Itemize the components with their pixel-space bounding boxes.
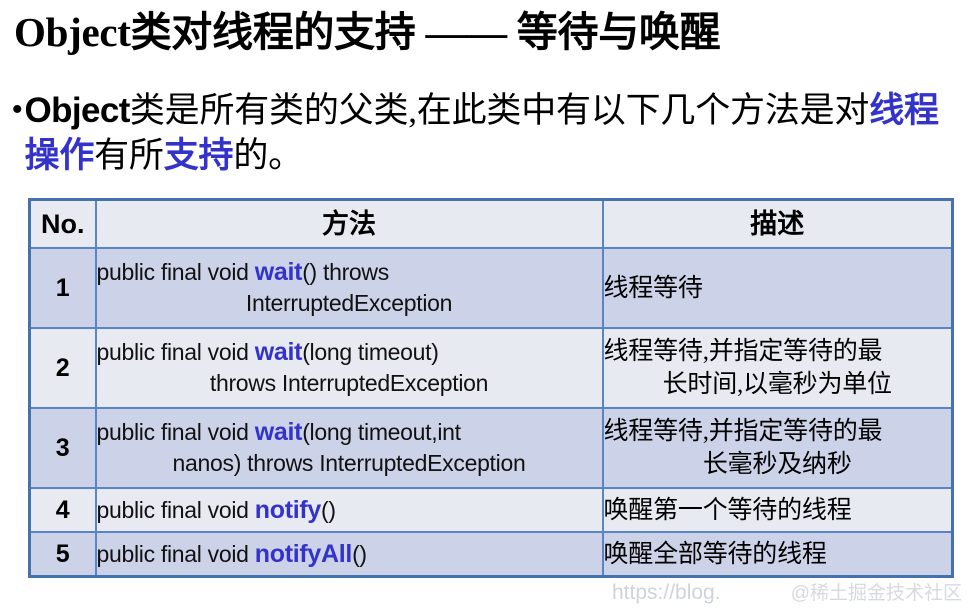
method-name: notify — [255, 496, 321, 524]
watermark-handle: @稀土掘金技术社区 — [791, 578, 962, 605]
signature-line-2: nanos) throws InterruptedException — [97, 448, 602, 479]
table-row: 2 public final void wait(long timeout) t… — [30, 328, 953, 408]
row-number: 4 — [30, 488, 96, 532]
method-description: 唤醒全部等待的线程 — [603, 532, 953, 577]
row-number: 2 — [30, 328, 96, 408]
signature-prefix: public final void — [97, 419, 255, 445]
signature-suffix: (long timeout) — [302, 339, 438, 365]
signature-suffix: () — [352, 541, 367, 567]
method-description: 唤醒第一个等待的线程 — [603, 488, 953, 532]
page-title: Object类对线程的支持 —— 等待与唤醒 — [14, 6, 954, 58]
bullet-highlight-2: 支持 — [164, 136, 234, 175]
watermark-url: https://blog. — [612, 581, 721, 605]
bullet-segment-3: 的。 — [233, 136, 303, 175]
method-name: notifyAll — [255, 540, 352, 568]
method-signature: public final void notify() — [96, 488, 603, 532]
description-line-1: 唤醒第一个等待的线程 — [604, 494, 952, 527]
table-header-row: No. 方法 描述 — [30, 200, 953, 249]
bullet-text: Object类是所有类的父类,在此类中有以下几个方法是对线程操作有所支持的。 — [25, 88, 952, 178]
signature-suffix: () — [321, 497, 336, 523]
description-line-2: 长时间,以毫秒为单位 — [604, 368, 952, 401]
method-description: 线程等待,并指定等待的最 长时间,以毫秒为单位 — [603, 328, 953, 408]
row-number: 5 — [30, 532, 96, 577]
row-number: 1 — [30, 248, 96, 328]
description-line-1: 唤醒全部等待的线程 — [604, 538, 952, 571]
method-signature: public final void notifyAll() — [96, 532, 603, 577]
method-name: wait — [255, 418, 302, 446]
method-signature: public final void wait(long timeout) thr… — [96, 328, 603, 408]
row-number: 3 — [30, 408, 96, 488]
table-row: 5 public final void notifyAll() 唤醒全部等待的线… — [30, 532, 953, 577]
table-row: 3 public final void wait(long timeout,in… — [30, 408, 953, 488]
signature-line-2: InterruptedException — [97, 288, 602, 319]
bullet-marker-icon: • — [12, 88, 23, 132]
bullet-paragraph: • Object类是所有类的父类,在此类中有以下几个方法是对线程操作有所支持的。 — [12, 88, 952, 178]
description-line-1: 线程等待 — [604, 272, 952, 305]
method-name: wait — [255, 258, 302, 286]
method-description: 线程等待 — [603, 248, 953, 328]
column-header-description: 描述 — [603, 200, 953, 249]
method-description: 线程等待,并指定等待的最 长毫秒及纳秒 — [603, 408, 953, 488]
bullet-segment-1: 类是所有类的父类,在此类中有以下几个方法是对 — [130, 91, 869, 130]
signature-suffix: (long timeout,int — [302, 419, 461, 445]
object-methods-table: No. 方法 描述 1 public final void wait() thr… — [28, 198, 954, 578]
signature-prefix: public final void — [97, 339, 255, 365]
column-header-method: 方法 — [96, 200, 603, 249]
bullet-segment-2: 有所 — [94, 136, 164, 175]
signature-prefix: public final void — [97, 259, 255, 285]
signature-prefix: public final void — [97, 497, 255, 523]
method-signature: public final void wait() throws Interrup… — [96, 248, 603, 328]
table-row: 1 public final void wait() throws Interr… — [30, 248, 953, 328]
description-line-1: 线程等待,并指定等待的最 — [604, 415, 952, 448]
table-row: 4 public final void notify() 唤醒第一个等待的线程 — [30, 488, 953, 532]
signature-line-2: throws InterruptedException — [97, 368, 602, 399]
column-header-no: No. — [30, 200, 96, 249]
description-line-1: 线程等待,并指定等待的最 — [604, 335, 952, 368]
bullet-latin-term: Object — [25, 91, 130, 130]
watermark: https://blog. @稀土掘金技术社区 — [612, 578, 962, 605]
method-signature: public final void wait(long timeout,int … — [96, 408, 603, 488]
description-line-2: 长毫秒及纳秒 — [604, 448, 952, 481]
signature-suffix: () throws — [302, 259, 389, 285]
signature-prefix: public final void — [97, 541, 255, 567]
method-name: wait — [255, 338, 302, 366]
